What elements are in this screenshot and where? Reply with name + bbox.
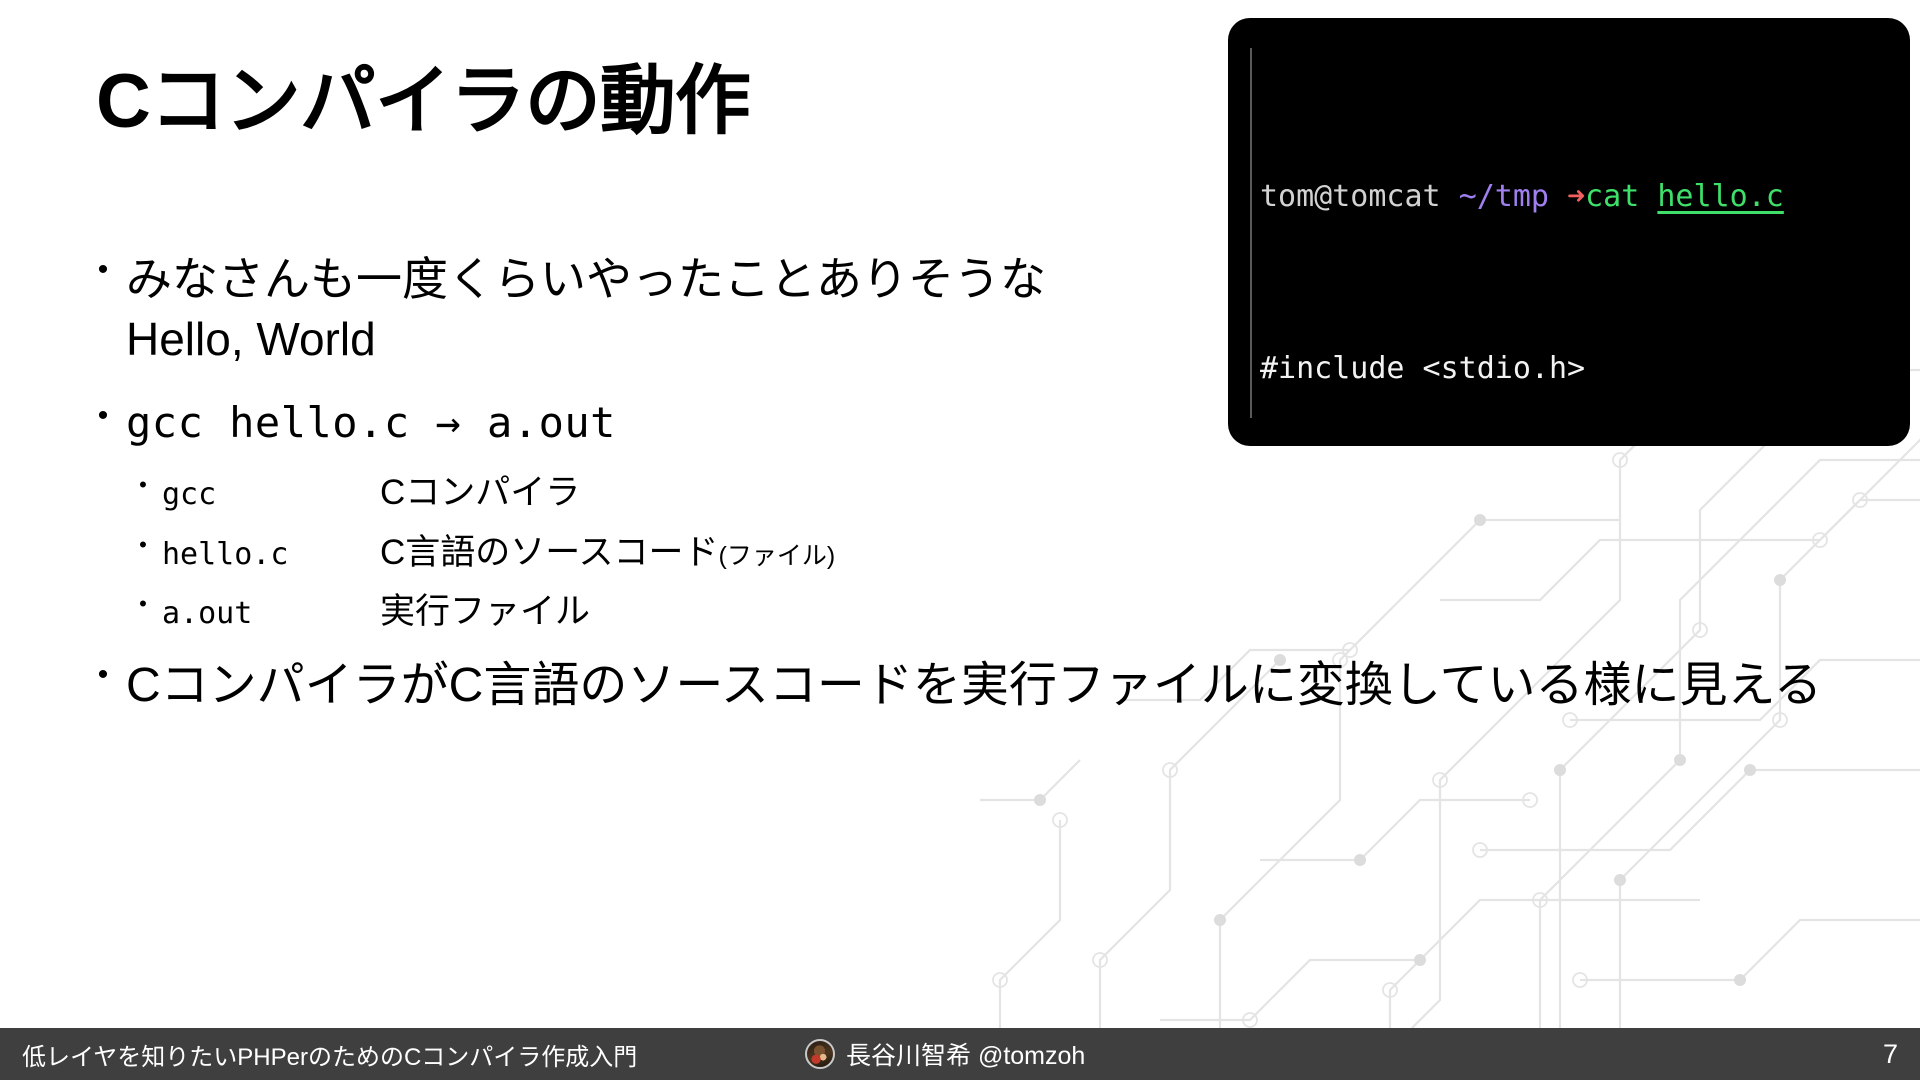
output-include: #include <stdio.h> xyxy=(1260,351,1585,386)
bullet-item-aout-definition: • a.out実行ファイル xyxy=(124,589,1880,635)
prompt-user: tom@tomcat xyxy=(1260,179,1441,214)
definition-helloc: C言語のソースコード xyxy=(380,533,719,572)
bullet-text-block: a.out実行ファイル xyxy=(162,589,590,635)
slide-footer: 低レイヤを知りたいPHPerのためのCコンパイラ作成入門 長谷川智希 @tomz… xyxy=(0,1028,1920,1080)
slide-canvas: Cコンパイラの動作 • みなさんも一度くらいやったことありそうな Hello, … xyxy=(0,0,1920,1080)
bullet-item-helloc-definition: • hello.cC言語のソースコード(ファイル) xyxy=(124,530,1880,576)
prompt-path: ~/tmp xyxy=(1459,179,1549,214)
definition-gcc: Cコンパイラ xyxy=(380,473,580,512)
terminal-window[interactable]: tom@tomcat ~/tmp ➜cat hello.c #include <… xyxy=(1228,18,1910,446)
terminal-line-prompt-cat: tom@tomcat ~/tmp ➜cat hello.c xyxy=(1260,175,1910,218)
terminal-content: tom@tomcat ~/tmp ➜cat hello.c #include <… xyxy=(1250,46,1910,446)
bullet-text-summary: CコンパイラがC言語のソースコードを実行ファイルに変換している様に見える xyxy=(126,655,1880,717)
bullet-marker: • xyxy=(80,250,126,289)
footer-author-block: 長谷川智希 @tomzoh xyxy=(805,1036,1085,1072)
bullet-item-gcc-definition: • gccCコンパイラ xyxy=(124,470,1880,516)
bullet-item-summary: • CコンパイラがC言語のソースコードを実行ファイルに変換している様に見える xyxy=(80,655,1880,717)
bullet-text-block: gccCコンパイラ xyxy=(162,470,580,516)
bullet-marker: • xyxy=(124,470,162,501)
avatar xyxy=(805,1039,835,1069)
term-helloc: hello.c xyxy=(162,535,380,574)
bullet-marker: • xyxy=(124,589,162,620)
footer-talk-title: 低レイヤを知りたいPHPerのためのCコンパイラ作成入門 xyxy=(22,1037,637,1072)
footer-author-name: 長谷川智希 @tomzoh xyxy=(846,1036,1085,1072)
bullet-marker: • xyxy=(80,396,126,435)
page-title: Cコンパイラの動作 xyxy=(96,58,750,145)
definition-aout: 実行ファイル xyxy=(380,592,590,631)
bullet-line-1: みなさんも一度くらいやったことありそうな xyxy=(126,253,1046,305)
terminal-line-include: #include <stdio.h> xyxy=(1260,347,1910,390)
definition-helloc-note: (ファイル) xyxy=(719,542,836,570)
term-gcc: gcc xyxy=(162,475,380,514)
command-argument-helloc: hello.c xyxy=(1657,179,1783,214)
bullet-text-block: hello.cC言語のソースコード(ファイル) xyxy=(162,530,835,576)
page-number: 7 xyxy=(1883,1039,1898,1070)
term-aout: a.out xyxy=(162,594,380,633)
command-cat: cat xyxy=(1585,179,1639,214)
prompt-arrow-icon: ➜ xyxy=(1567,179,1585,214)
bullet-marker: • xyxy=(124,530,162,561)
bullet-line-2: Hello, World xyxy=(126,313,376,365)
bullet-marker: • xyxy=(80,655,126,694)
